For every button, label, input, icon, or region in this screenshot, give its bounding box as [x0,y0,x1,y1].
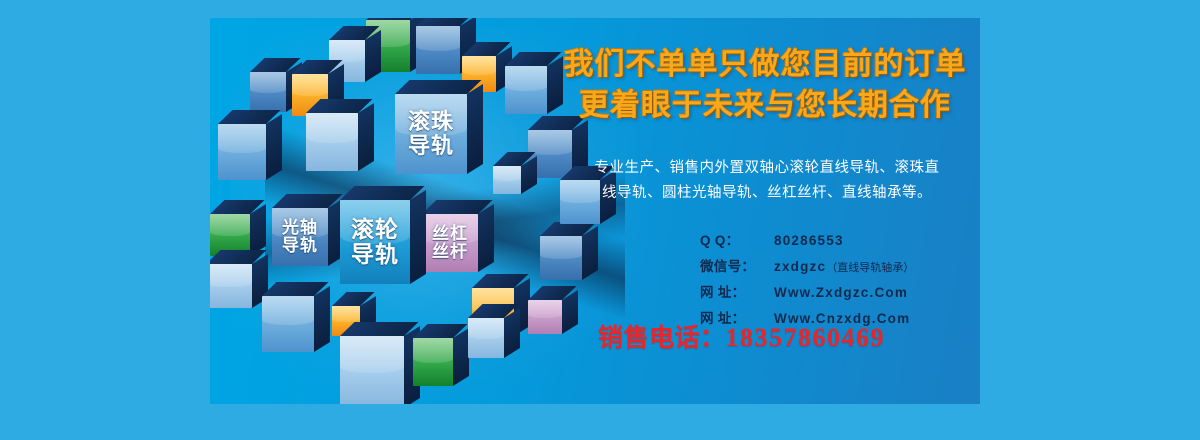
cube-face [340,336,404,404]
wechat-value: zxdgzc [774,254,826,280]
label-line-1: 丝杠 [432,225,468,243]
cube-label-ball-rail-text: 滚珠 导轨 [395,94,467,174]
cube-blue-far-left [218,124,266,180]
label-line-1: 光轴 [282,219,318,237]
promo-banner: 滚珠 导轨 光轴 导轨 滚轮 导轨 [210,18,980,404]
cube-pale-bottom-right [468,318,504,358]
cube-side-face [467,84,483,174]
cube-blue-left-upper [250,72,286,112]
label-line-1: 滚珠 [408,110,454,134]
cube-label-screw-text: 丝杠 丝杆 [422,214,478,272]
cube-green-bottom [413,338,453,386]
contact-row-website-1[interactable]: 网 址： Www.Zxdgzc.Com [700,280,980,306]
cube-blue-top-right [416,26,460,74]
cube-face [262,296,314,352]
cube-label-shaft-rail-text: 光轴 导轨 [272,208,328,266]
contact-info-block: Q Q： 80286553 微信号： zxdgzc （直线导轨轴承） 网 址： … [700,228,980,332]
cube-blue-bottom-left [262,296,314,352]
cube-top-face [395,80,481,94]
cube-side-face [358,103,374,171]
cube-side-face [410,190,426,284]
headline: 我们不单单只做您目前的订单 更着眼于未来与您长期合作 [550,44,980,127]
cube-top-face [340,186,424,200]
page-root: 滚珠 导轨 光轴 导轨 滚轮 导轨 [0,0,1200,440]
sales-phone-number: 18357860469 [726,323,886,352]
sales-phone: 销售电话：18357860469 [598,318,978,354]
cube-pale-bottom-left [210,264,252,308]
headline-line-1: 我们不单单只做您目前的订单 [550,44,980,85]
headline-line-2: 更着眼于未来与您长期合作 [550,85,980,126]
cube-side-face [478,204,494,272]
cube-face [218,124,266,180]
label-line-1: 滚轮 [351,217,399,242]
cube-side-face [365,30,381,82]
website-1-value[interactable]: Www.Zxdgzc.Com [774,280,908,306]
description-text: 专业生产、销售内外置双轴心滚轮直线导轨、滚珠直线导轨、圆柱光轴导轨、丝杠丝杆、直… [588,156,946,206]
cube-pale-bottom-center [340,336,404,404]
contact-row-wechat: 微信号： zxdgzc （直线导轨轴承） [700,254,980,280]
cube-label-shaft-rail[interactable]: 光轴 导轨 [272,208,328,266]
label-line-2: 导轨 [408,134,454,158]
label-line-2: 导轨 [351,242,399,267]
wechat-label: 微信号： [700,254,774,280]
sales-phone-label: 销售电话： [598,324,726,352]
cube-side-face [266,114,282,180]
qq-value: 80286553 [774,228,844,254]
cube-side-face [250,204,266,256]
label-line-2: 导轨 [282,237,318,255]
cube-label-screw[interactable]: 丝杠 丝杆 [422,214,478,272]
website-1-label: 网 址： [700,280,774,306]
cube-blue-far-right [505,66,547,114]
cube-small-pale-right [493,166,521,194]
qq-label: Q Q： [700,228,774,254]
cube-label-roller-rail-text: 滚轮 导轨 [340,200,410,284]
contact-row-qq: Q Q： 80286553 [700,228,980,254]
cube-face [210,264,252,308]
cube-face [493,166,521,194]
cube-face [468,318,504,358]
label-line-2: 丝杆 [432,243,468,261]
cube-face [413,338,453,386]
cube-side-face [314,286,330,352]
cube-face [416,26,460,74]
wechat-note: （直线导轨轴承） [826,258,914,279]
cube-face [306,113,358,171]
cube-face [505,66,547,114]
cube-side-face [453,328,469,386]
cube-pale-center [306,113,358,171]
banner-text-column: 我们不单单只做您目前的订单 更着眼于未来与您长期合作 专业生产、销售内外置双轴心… [550,18,980,404]
cube-face [250,72,286,112]
cube-label-ball-rail[interactable]: 滚珠 导轨 [395,94,467,174]
cube-label-roller-rail[interactable]: 滚轮 导轨 [340,200,410,284]
